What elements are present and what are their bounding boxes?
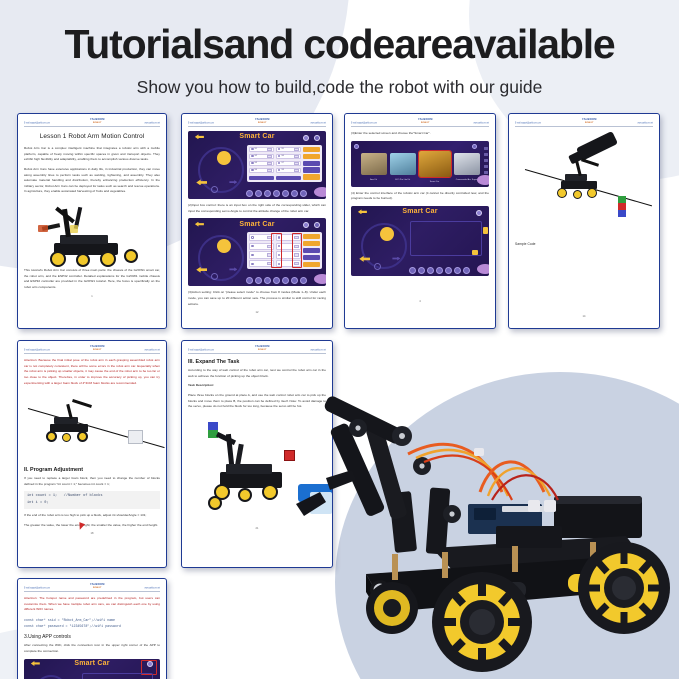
highlight-box (292, 233, 302, 267)
panel-button[interactable] (249, 176, 274, 181)
servo-cell[interactable]: S7 (276, 161, 301, 166)
servo-cell[interactable]: S3 (249, 161, 274, 166)
tile-label: Arm Kit (361, 179, 387, 181)
dock-icon[interactable] (246, 277, 253, 284)
servo-rows: S1 S5 S2 S6 S3 S7 S4 S8 (249, 147, 301, 180)
robot-tile[interactable]: Commander/Acc Super (454, 153, 480, 175)
camera-button[interactable] (472, 250, 478, 255)
smartcar-app-screen-action[interactable]: Smart Car (188, 218, 326, 286)
document-card-enter-interface[interactable]: E-mail:support@yahboom.com YAHBOOM ROBOT… (344, 113, 496, 329)
servo-row: S1 S5 (249, 147, 301, 152)
video-stream-area[interactable] (82, 673, 153, 679)
page-header-email: E-mail:support@yahboom.com (24, 345, 50, 352)
tile-label: Commander/Acc Super (454, 179, 480, 181)
document-card-app-controls[interactable]: E-mail:support@yahboom.com YAHBOOM ROBOT… (17, 578, 167, 679)
code-block-block-count: int count = 1; //Number of blocks int i … (24, 491, 160, 509)
logo-line-2: ROBOT (255, 349, 270, 351)
section-heading-app-controls: 3.Using APP controls (24, 634, 160, 640)
mode-button[interactable] (303, 147, 320, 153)
joystick-ring[interactable] (34, 675, 68, 679)
attention-note-wifi: Attention: The hotspot name and password… (24, 596, 160, 613)
tile-label: Smart Car (419, 181, 451, 183)
servo-cell[interactable]: S8 (276, 168, 301, 173)
yahboom-logo: YAHBOOM ROBOT (418, 119, 433, 124)
section-heading-expand-task: III. Expand The Task (188, 359, 326, 365)
mode-button[interactable] (303, 161, 320, 167)
hero-product-photo (296, 396, 679, 679)
dock-icon[interactable] (291, 190, 298, 197)
panel-action-buttons (249, 176, 301, 181)
robot-tile[interactable]: Arm Kit (361, 153, 387, 175)
yahboom-logo: YAHBOOM ROBOT (90, 119, 105, 124)
page-header-email: E-mail:support@yahboom.com (351, 118, 377, 125)
program-adjust-paragraph-3: The greater the value, the lower the end… (24, 523, 160, 529)
page-header-site: www.yahboom.net (638, 118, 653, 125)
section-heading-program-adjustment: II. Program Adjustment (24, 467, 160, 473)
servo-cell[interactable]: S1 (249, 147, 274, 152)
logo-line-2: ROBOT (90, 122, 105, 124)
page-header: E-mail:support@yahboom.com YAHBOOM ROBOT… (515, 119, 653, 127)
page-header-email: E-mail:support@yahboom.com (24, 118, 50, 125)
toolbar-icon[interactable] (484, 153, 488, 156)
mode-button[interactable] (303, 262, 320, 268)
program-adjust-paragraph-2: If the end of the robot arm is too high … (24, 513, 160, 519)
dock-icon[interactable] (282, 190, 289, 197)
help-circle-icon[interactable] (472, 144, 477, 149)
dock-icon[interactable] (300, 190, 307, 197)
app-dock (392, 267, 486, 274)
mode-button[interactable] (303, 234, 320, 240)
page-title: Tutorialsand codeareavailable (0, 24, 679, 65)
page-number: 14 (515, 315, 653, 318)
planet-decoration-icon (477, 264, 489, 274)
planet-decoration-icon (314, 187, 326, 197)
lesson-heading: Lesson 1 Robot Arm Motion Control (24, 133, 160, 140)
page-header: E-mail:support@yahboom.com YAHBOOM ROBOT… (351, 119, 489, 127)
dock-icon[interactable] (445, 267, 452, 274)
mode-button[interactable] (303, 255, 320, 261)
toolbar-icon[interactable] (484, 159, 488, 162)
dock-icon[interactable] (409, 267, 416, 274)
mouse-cursor-icon (77, 522, 85, 531)
page-header-email: E-mail:support@yahboom.com (515, 118, 541, 125)
page-header-site: www.yahboom.net (145, 583, 160, 590)
dock-icon[interactable] (264, 190, 271, 197)
caption-input-box-control: (2)Input box control: there is an input … (188, 203, 326, 214)
side-tab-button[interactable] (483, 227, 488, 234)
smartcar-control-screen[interactable]: Smart Car (351, 206, 489, 276)
mode-button[interactable] (303, 174, 320, 180)
logo-line-2: ROBOT (90, 587, 105, 589)
document-card-lesson1[interactable]: E-mail:support@yahboom.com YAHBOOM ROBOT… (17, 113, 167, 329)
dock-icon[interactable] (418, 267, 425, 274)
dock-icon[interactable] (454, 267, 461, 274)
logo-line-2: ROBOT (418, 122, 433, 124)
servo-row: S3 S7 (249, 161, 301, 166)
caption-action-setting: (3)Action setting: Click on "please sele… (188, 290, 326, 307)
poster-header: Tutorialsand codeareavailable Show you h… (0, 0, 679, 98)
lesson-paragraph-2: Robot Arm Cars have extensive applicatio… (24, 167, 160, 195)
dock-icon[interactable] (264, 277, 271, 284)
program-adjust-paragraph-1: If you need to replace a larger foam blo… (24, 476, 160, 487)
page-header-site: www.yahboom.net (145, 118, 160, 125)
dock-icon[interactable] (291, 277, 298, 284)
smartcar-app-screen[interactable]: Smart Car S1 S5 S2 S6 (188, 131, 326, 199)
dock-icon[interactable] (273, 277, 280, 284)
dock-icon[interactable] (463, 267, 470, 274)
app-dock (229, 277, 323, 284)
page-number: 12 (188, 311, 326, 314)
page-header-email: E-mail:support@yahboom.com (188, 345, 214, 352)
mode-button[interactable] (303, 241, 320, 247)
back-circle-icon[interactable] (354, 144, 359, 149)
joystick-knob[interactable] (380, 227, 394, 241)
mode-button[interactable] (303, 167, 320, 173)
dock-icon[interactable] (246, 190, 253, 197)
page-number: 4 (351, 300, 489, 303)
panel-button[interactable] (276, 176, 301, 181)
page-header-email: E-mail:support@yahboom.com (188, 118, 214, 125)
page-number: 18 (24, 532, 160, 535)
servo-cell[interactable]: S6 (276, 154, 301, 159)
caption-control-interface: (4) Enter the control interface of the r… (351, 191, 489, 202)
mode-button[interactable] (303, 248, 320, 254)
dock-icon[interactable] (300, 277, 307, 284)
robot-line-diagram (515, 131, 653, 241)
yahboom-logo: YAHBOOM ROBOT (255, 346, 270, 351)
mode-buttons (303, 147, 320, 180)
app-title: Smart Car (351, 208, 489, 215)
document-card-program-adjustment[interactable]: E-mail:support@yahboom.com YAHBOOM ROBOT… (17, 340, 167, 568)
page-header-site: www.yahboom.net (145, 345, 160, 352)
robot-arm-car-illustration (296, 396, 679, 679)
app-controls-paragraph: After connecting the WiFi, click the con… (24, 643, 160, 654)
dock-icon[interactable] (255, 190, 262, 197)
servo-cell[interactable]: S4 (249, 168, 274, 173)
highlight-box (271, 233, 281, 267)
robot-tile[interactable]: G2O Pro Lite Kit (390, 153, 416, 175)
page-header: E-mail:support@yahboom.com YAHBOOM ROBOT… (24, 346, 160, 354)
page-header: E-mail:support@yahboom.com YAHBOOM ROBOT… (24, 584, 160, 592)
dock-icon[interactable] (436, 267, 443, 274)
dock-icon[interactable] (427, 267, 434, 274)
app-title: Smart Car (24, 660, 160, 667)
dock-icon[interactable] (273, 190, 280, 197)
task-description-subheading: Task Description: (188, 383, 326, 389)
lesson-paragraph-3: This tutorial's Robot Arm Car consists o… (24, 268, 160, 291)
robot-arm-car-photo (24, 199, 160, 265)
joystick-knob[interactable] (217, 239, 231, 253)
servo-cell[interactable]: S5 (276, 147, 301, 152)
toolbar-icon[interactable] (484, 171, 488, 174)
page-header-email: E-mail:support@yahboom.com (24, 583, 50, 590)
toolbar-icon[interactable] (484, 165, 488, 168)
caption-enter-selected-screen: (3)Enter the selected screen and choose … (351, 131, 489, 137)
page-header-site: www.yahboom.net (311, 118, 326, 125)
app-dock (229, 190, 323, 197)
logo-line-2: ROBOT (90, 349, 105, 351)
mode-buttons (303, 234, 320, 267)
logo-line-2: ROBOT (255, 122, 270, 124)
servo-control-panel[interactable]: S1 S5 S2 S6 S3 S7 S4 S8 (247, 145, 322, 182)
robot-selection-screen[interactable]: Arm Kit G2O Pro Lite Kit Smart Car Comma… (351, 141, 489, 187)
lesson-paragraph-1: Robot Arm Car is a complex intelligent m… (24, 146, 160, 163)
sample-code-caption: Sample Code (515, 241, 653, 247)
yahboom-logo: YAHBOOM ROBOT (90, 346, 105, 351)
page-header: E-mail:support@yahboom.com YAHBOOM ROBOT… (188, 119, 326, 127)
servo-row: S2 S6 (249, 154, 301, 159)
servo-cell[interactable]: S2 (249, 154, 274, 159)
yahboom-logo: YAHBOOM ROBOT (582, 119, 597, 124)
yahboom-logo: YAHBOOM ROBOT (90, 584, 105, 589)
page-header: E-mail:support@yahboom.com YAHBOOM ROBOT… (188, 346, 326, 354)
poster-canvas: Tutorialsand codeareavailable Show you h… (0, 0, 679, 679)
dock-icon[interactable] (255, 277, 262, 284)
servo-row: S4 S8 (249, 168, 301, 173)
document-card-smartcar-steps[interactable]: E-mail:support@yahboom.com YAHBOOM ROBOT… (181, 113, 333, 329)
dock-icon[interactable] (282, 277, 289, 284)
robot-tile-selected[interactable]: Smart Car (419, 151, 451, 177)
page-subtitle: Show you how to build,code the robot wit… (0, 77, 679, 98)
attention-note: Attention: Because the final initial pos… (24, 358, 160, 386)
servo-control-panel[interactable] (247, 232, 322, 269)
tile-label: G2O Pro Lite Kit (390, 179, 416, 181)
planet-decoration-icon (477, 175, 489, 185)
side-toolbar[interactable] (484, 147, 488, 174)
planet-decoration-icon (314, 274, 326, 284)
page-header-site: www.yahboom.net (311, 345, 326, 352)
document-card-sample-code[interactable]: E-mail:support@yahboom.com YAHBOOM ROBOT… (508, 113, 660, 329)
page-header: E-mail:support@yahboom.com YAHBOOM ROBOT… (24, 119, 160, 127)
page-number: 1 (24, 295, 160, 298)
logo-line-2: ROBOT (582, 122, 597, 124)
page-header-site: www.yahboom.net (474, 118, 489, 125)
mode-button[interactable] (303, 154, 320, 160)
code-block-wifi-credentials: const char* ssid = "Robot_Arm_Car";//wif… (24, 617, 160, 630)
expand-task-paragraph-1: According to the way of web control of t… (188, 368, 326, 379)
toolbar-icon[interactable] (484, 147, 488, 150)
robot-foam-block-diagram (24, 390, 160, 462)
yahboom-logo: YAHBOOM ROBOT (255, 119, 270, 124)
smartcar-app-screen-connect[interactable]: Smart Car (24, 659, 160, 679)
